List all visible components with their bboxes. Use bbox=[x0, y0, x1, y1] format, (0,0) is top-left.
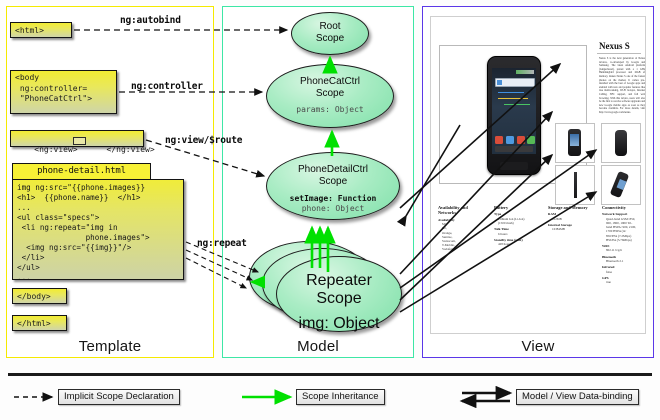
partial-filename: phone-detail.html bbox=[12, 163, 151, 180]
column-label-model: Model bbox=[222, 338, 414, 355]
diagram-canvas: <html> <body ng:controller= "PhoneCatCtr… bbox=[0, 0, 660, 420]
legend-divider bbox=[8, 373, 652, 376]
scope-repeater-stack: RepeaterScope img: Object bbox=[249, 241, 401, 337]
scope-phonedetailctrl-slot-setimage: setImage: Function bbox=[267, 194, 399, 204]
thumbnail-4-screen bbox=[617, 179, 627, 190]
spec-values-type: Lithium Ion (Li-Ion)(1500 mAh) bbox=[494, 217, 544, 225]
body-close-tag: </body> bbox=[12, 288, 67, 304]
spec-col-availability: Availability andNetworks Availability M1… bbox=[438, 205, 490, 252]
spec-values-ram: 512MB bbox=[548, 217, 600, 221]
legend-label-scope-inheritance: Scope Inheritance bbox=[296, 389, 385, 405]
spec-col-battery: Battery Type Lithium Ion (Li-Ion)(1500 m… bbox=[494, 205, 544, 246]
edge-label-repeat: ng:repeat bbox=[197, 238, 247, 249]
thumbnail-4[interactable] bbox=[601, 165, 641, 205]
html-open-tag: <html> bbox=[10, 22, 72, 38]
column-label-view: View bbox=[422, 338, 654, 355]
product-title: Nexus S bbox=[599, 41, 660, 51]
template-partial: phone-detail.html img ng:src="{{phone.im… bbox=[12, 163, 184, 280]
thumbnail-3[interactable] bbox=[555, 165, 595, 205]
spec-values-availability: M1,O2,Orange,Sunrise,Swisscom,T-Mobile,V… bbox=[438, 222, 490, 251]
scope-phonecatctrl: PhoneCatCtrlScope params: Object bbox=[266, 64, 394, 128]
spec-values-internal: 16384MB bbox=[548, 227, 600, 231]
spec-values-bluetooth: Bluetooth 2.1 bbox=[602, 259, 646, 263]
edge-label-autobind: ng:autobind bbox=[120, 15, 181, 26]
scope-repeater-slot-img: img: Object bbox=[277, 315, 401, 333]
ng-view-slot-icon bbox=[73, 137, 86, 145]
edge-label-controller: ng:controller bbox=[131, 81, 203, 92]
ng-view-tag: <ng:view> </ng:view> bbox=[10, 130, 144, 147]
spec-col-storage: Storage and Memory RAM 512MB Internal St… bbox=[548, 205, 600, 232]
thumbnail-2-phone-icon bbox=[615, 130, 627, 156]
html-close-tag: </html> bbox=[12, 315, 67, 331]
phone-app-icon-2 bbox=[506, 136, 514, 144]
spec-values-network: Quad-band GSM: 850,900, 1800, 1900 Tri-b… bbox=[602, 217, 646, 242]
phone-wallpaper-line-2 bbox=[498, 98, 528, 99]
scope-phonedetailctrl: PhoneDetailCtrlScope setImage: Function … bbox=[266, 152, 400, 220]
title-divider bbox=[597, 53, 641, 54]
thumbnail-1-screen bbox=[570, 134, 579, 146]
legend-label-implicit-scope: Implicit Scope Declaration bbox=[58, 389, 180, 405]
phone-searchbar-icon bbox=[495, 78, 535, 87]
spec-col-connectivity: Connectivity Network Support Quad-band G… bbox=[602, 205, 646, 284]
edge-label-view-route: ng:view/$route bbox=[165, 135, 242, 146]
phone-app-icon-1 bbox=[495, 136, 503, 144]
legend-label-data-binding: Model / View Data-binding bbox=[516, 389, 639, 405]
phone-app-icon-4 bbox=[527, 136, 535, 144]
spec-header-availability: Availability andNetworks bbox=[438, 205, 490, 216]
thumbnail-3-phone-icon bbox=[574, 172, 577, 198]
spec-table: Availability andNetworks Availability M1… bbox=[436, 205, 642, 305]
phone-device-image bbox=[487, 56, 541, 175]
spec-header-storage: Storage and Memory bbox=[548, 205, 600, 210]
partial-code: img ng:src="{{phone.images}} <h1> {{phon… bbox=[12, 179, 184, 280]
body-open-tag: <body ng:controller= "PhoneCatCtrl"> bbox=[10, 70, 117, 114]
phone-app-icon-3 bbox=[517, 136, 525, 144]
view-rendered-page: Nexus S Nexus S is the next generation o… bbox=[430, 16, 646, 334]
phone-wallpaper-line-3 bbox=[504, 104, 530, 105]
scope-phonecatctrl-name: PhoneCatCtrlScope bbox=[267, 76, 393, 99]
scope-phonecatctrl-slot-params: params: Object bbox=[267, 105, 393, 115]
phone-nav-strip bbox=[495, 146, 533, 152]
phone-wallpaper-line-1 bbox=[498, 92, 524, 93]
ng-view-tag-text: <ng:view> </ng:view> bbox=[34, 145, 154, 154]
product-description: Nexus S is the next generation of Nexus … bbox=[599, 57, 645, 115]
spec-header-connectivity: Connectivity bbox=[602, 205, 646, 210]
scope-phonedetailctrl-slot-phone: phone: Object bbox=[267, 204, 399, 214]
thumbnail-2[interactable] bbox=[601, 123, 641, 163]
spec-values-talktime: 6 hours bbox=[494, 232, 544, 236]
phone-hero-image-frame bbox=[439, 45, 587, 184]
spec-values-wifi: 802.11 b/g/n bbox=[602, 248, 646, 252]
spec-header-battery: Battery bbox=[494, 205, 544, 210]
spec-values-standby: 428 hours bbox=[494, 242, 544, 246]
scope-phonedetailctrl-name: PhoneDetailCtrlScope bbox=[267, 164, 399, 187]
phone-app-dock bbox=[492, 134, 536, 154]
scope-repeater-name: RepeaterScope bbox=[277, 272, 401, 308]
spec-values-infrared: false bbox=[602, 270, 646, 274]
scope-repeater: RepeaterScope img: Object bbox=[276, 256, 402, 332]
phone-screen bbox=[492, 68, 536, 154]
column-label-template: Template bbox=[6, 338, 214, 355]
thumbnail-1[interactable] bbox=[555, 123, 595, 163]
spec-values-gps: true bbox=[602, 280, 646, 284]
scope-root-name: RootScope bbox=[292, 21, 368, 44]
phone-hardware-keys bbox=[500, 162, 528, 170]
phone-statusbar-icon bbox=[516, 70, 534, 74]
scope-root: RootScope bbox=[291, 12, 369, 55]
